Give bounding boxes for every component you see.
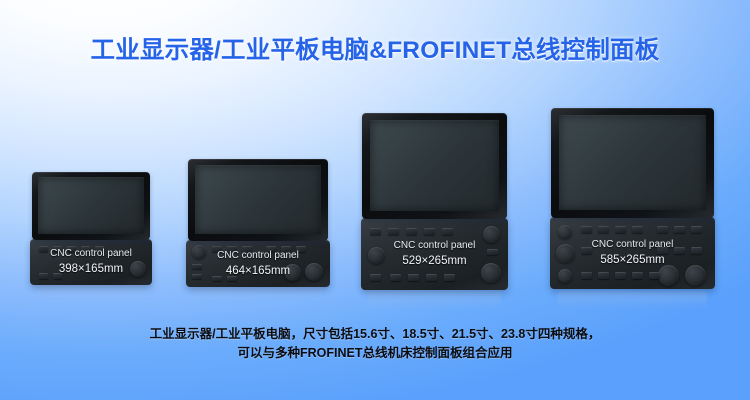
rotary-knob[interactable] — [284, 264, 301, 281]
panel-button[interactable] — [281, 246, 291, 252]
footer-line-2: 可以与多种FROFINET总线机床控制面板组合应用 — [0, 344, 750, 363]
promo-banner: 工业显示器/工业平板电脑&FROFINET总线控制面板 CNC control … — [0, 0, 750, 400]
device-card-4: CNC control panel 585×265mm — [551, 108, 714, 289]
footer-line-1: 工业显示器/工业平板电脑，尺寸包括15.6寸、18.5寸、21.5寸、23.8寸… — [0, 325, 750, 344]
panel-button[interactable] — [212, 276, 222, 281]
control-panel-3[interactable]: CNC control panel 529×265mm — [361, 218, 508, 290]
control-panel-1[interactable]: CNC control panel 398×165mm — [30, 239, 152, 285]
panel-button[interactable] — [192, 274, 202, 279]
panel-button[interactable] — [227, 246, 237, 252]
monitor-1 — [32, 172, 150, 240]
rotary-knob[interactable] — [556, 244, 575, 263]
panel-button[interactable] — [212, 246, 222, 252]
panel-button[interactable] — [657, 247, 668, 254]
panel-button[interactable] — [242, 246, 252, 252]
control-panel-2[interactable]: CNC control panel 464×165mm — [186, 240, 330, 287]
panel-button[interactable] — [53, 273, 62, 279]
panel-button[interactable] — [615, 272, 626, 279]
device-reflection — [558, 291, 708, 309]
panel-button[interactable] — [39, 246, 48, 252]
device-card-2: CNC control panel 464×165mm — [188, 159, 328, 287]
panel-button[interactable] — [657, 226, 668, 233]
panel-button[interactable] — [442, 228, 453, 235]
panel-name-1: CNC control panel — [30, 247, 152, 261]
rotary-knob[interactable] — [481, 263, 501, 283]
panel-button[interactable] — [632, 226, 643, 233]
panel-button[interactable] — [227, 276, 237, 281]
panel-button[interactable] — [408, 274, 419, 281]
panel-button[interactable] — [581, 226, 592, 233]
rotary-knob[interactable] — [685, 265, 706, 286]
panel-button[interactable] — [192, 264, 202, 269]
panel-button[interactable] — [424, 228, 435, 235]
footer-description: 工业显示器/工业平板电脑，尺寸包括15.6寸、18.5寸、21.5寸、23.8寸… — [0, 325, 750, 363]
rotary-knob[interactable] — [658, 265, 679, 286]
rotary-knob[interactable] — [558, 225, 572, 239]
panel-button[interactable] — [598, 272, 609, 279]
device-card-3: CNC control panel 529×265mm — [362, 113, 507, 290]
rotary-knob[interactable] — [558, 269, 572, 283]
device-reflection — [368, 291, 501, 309]
rotary-knob[interactable] — [483, 226, 500, 243]
display-screen-3 — [370, 120, 499, 211]
panel-button[interactable] — [296, 246, 306, 252]
rotary-knob[interactable] — [368, 247, 385, 264]
device-reflection — [37, 284, 146, 300]
panel-button[interactable] — [581, 272, 592, 279]
rotary-knob[interactable] — [305, 263, 323, 281]
panel-button[interactable] — [388, 228, 399, 235]
panel-button[interactable] — [581, 247, 592, 254]
panel-button[interactable] — [691, 247, 702, 254]
monitor-3 — [362, 113, 507, 219]
panel-button[interactable] — [598, 226, 609, 233]
panel-button[interactable] — [691, 226, 702, 233]
control-panel-4[interactable]: CNC control panel 585×265mm — [550, 217, 715, 289]
panel-button[interactable] — [39, 273, 48, 279]
panel-button[interactable] — [370, 274, 381, 281]
panel-button[interactable] — [674, 226, 685, 233]
display-screen-2 — [195, 165, 321, 234]
panel-button[interactable] — [426, 274, 437, 281]
panel-button[interactable] — [406, 228, 417, 235]
panel-button[interactable] — [266, 246, 276, 252]
panel-button[interactable] — [67, 246, 76, 252]
rotary-knob[interactable] — [130, 261, 146, 277]
panel-button[interactable] — [95, 246, 104, 252]
panel-button[interactable] — [444, 274, 455, 281]
panel-button[interactable] — [53, 246, 62, 252]
panel-button[interactable] — [674, 247, 685, 254]
panel-button[interactable] — [632, 272, 643, 279]
device-card-1: CNC control panel 398×165mm — [32, 172, 150, 285]
page-title: 工业显示器/工业平板电脑&FROFINET总线控制面板 — [0, 31, 750, 66]
rotary-knob[interactable] — [192, 245, 206, 259]
panel-button[interactable] — [649, 272, 660, 279]
panel-button[interactable] — [81, 246, 90, 252]
display-screen-1 — [38, 177, 144, 234]
panel-name-2: CNC control panel — [186, 249, 330, 263]
panel-button[interactable] — [390, 274, 401, 281]
panel-button[interactable] — [370, 228, 381, 235]
monitor-2 — [188, 159, 328, 241]
panel-button[interactable] — [615, 226, 626, 233]
monitor-4 — [551, 108, 714, 218]
panel-button[interactable] — [487, 249, 498, 255]
display-screen-4 — [559, 115, 706, 210]
